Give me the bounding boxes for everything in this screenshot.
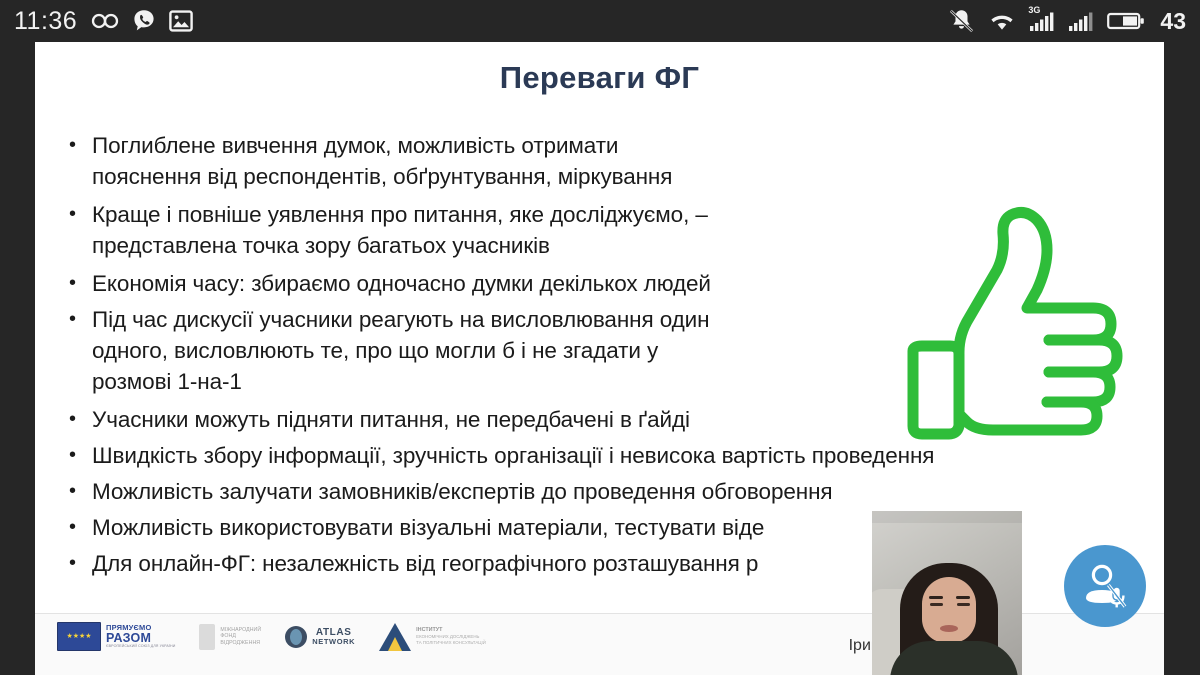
- gallery-icon: [169, 10, 193, 32]
- thumbs-up-icon: [897, 194, 1164, 466]
- eu-flag-icon: ★★★★: [57, 622, 101, 651]
- atlas-network-logo: ATLAS NETWORK: [285, 626, 355, 648]
- status-clock: 11:36: [14, 9, 77, 34]
- institute-logo-line1: ІНСТИТУТ: [416, 627, 486, 634]
- status-bar-left: 11:36: [14, 9, 193, 34]
- video-call-screen: 11:36: [0, 0, 1200, 675]
- video-person-brow-left: [929, 596, 943, 599]
- participant-video-thumbnail[interactable]: [872, 511, 1022, 675]
- infinity-icon: [91, 12, 119, 30]
- battery-level-label: 43: [1160, 10, 1186, 33]
- signal-bars-icon: [1068, 10, 1094, 32]
- participant-avatar-muted[interactable]: [1064, 545, 1146, 627]
- eu-priamuiemo-razom-logo: ★★★★ ПРЯМУЄМО РАЗОМ ЄВРОПЕЙСЬКИЙ СОЮЗ ДЛ…: [57, 622, 175, 651]
- institute-triangle-icon: [379, 623, 411, 651]
- slide-title: Переваги ФГ: [35, 60, 1164, 96]
- microphone-muted-icon: [1108, 585, 1125, 607]
- mute-bell-icon: [948, 8, 975, 34]
- video-person-face: [922, 577, 976, 643]
- video-person-shoulders: [890, 641, 1018, 675]
- atlas-logo-line2: NETWORK: [312, 638, 355, 646]
- mfv-logo-line3: ВІДРОДЖЕННЯ: [220, 640, 261, 647]
- mizhnarodnyi-fond-vidrodzhennia-logo: МІЖНАРОДНИЙ ФОНД ВІДРОДЖЕННЯ: [199, 624, 261, 650]
- eu-stars-icon: ★★★★: [58, 623, 100, 650]
- atlas-globe-icon: [285, 626, 307, 648]
- video-person-eye-right: [957, 603, 970, 606]
- viber-icon: [133, 9, 155, 33]
- sponsor-logos: ★★★★ ПРЯМУЄМО РАЗОМ ЄВРОПЕЙСЬКИЙ СОЮЗ ДЛ…: [57, 622, 486, 651]
- status-bar-right: 3G: [948, 8, 1186, 34]
- battery-icon: [1107, 10, 1145, 32]
- network-type-label: 3G: [1028, 5, 1040, 15]
- video-top-shade: [872, 511, 1022, 523]
- signal-3g-icon: 3G: [1029, 10, 1055, 32]
- wifi-icon: [988, 10, 1016, 32]
- institute-logo: ІНСТИТУТ ЕКОНОМІЧНИХ ДОСЛІДЖЕНЬ ТА ПОЛІТ…: [379, 623, 486, 651]
- eu-logo-line3: ЄВРОПЕЙСЬКИЙ СОЮЗ ДЛЯ УКРАЇНИ: [106, 645, 175, 649]
- video-person-mouth: [940, 625, 958, 632]
- status-bar: 11:36: [0, 0, 1200, 42]
- mfv-mark-icon: [199, 624, 215, 650]
- bullet-item: Поглиблене вивчення думок, можливість от…: [63, 130, 1133, 192]
- bullet-item: Можливість залучати замовників/експертів…: [63, 476, 1133, 507]
- video-person-eye-left: [930, 603, 943, 606]
- video-person-brow-right: [956, 596, 970, 599]
- person-muted-icon: [1077, 561, 1133, 611]
- institute-logo-line3: ТА ПОЛІТИЧНИХ КОНСУЛЬТАЦІЙ: [416, 640, 486, 646]
